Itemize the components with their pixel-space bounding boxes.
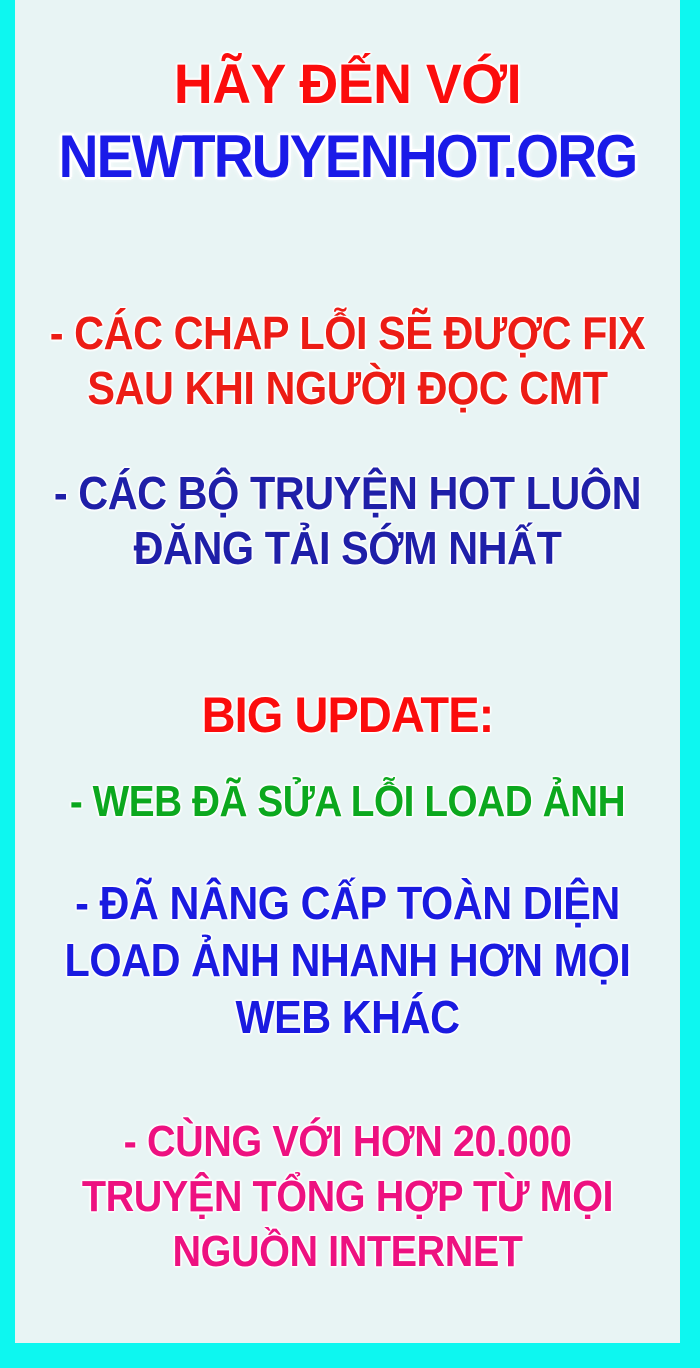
update-item-line: WEB KHÁC <box>48 994 647 1041</box>
notice-line: SAU KHI NGƯỜI ĐỌC CMT <box>48 365 647 412</box>
notice-fix-notice: - CÁC CHAP LỖI SẼ ĐƯỢC FIX SAU KHI NGƯỜI… <box>15 310 680 412</box>
banner-canvas: HÃY ĐẾN VỚI NEWTRUYENHOT.ORG - CÁC CHAP … <box>15 0 680 1343</box>
update-item-line: LOAD ẢNH NHANH HƠN MỌI <box>48 937 647 984</box>
update-item-full-upgrade: - ĐÃ NÂNG CẤP TOÀN DIỆN LOAD ẢNH NHANH H… <box>15 880 680 1041</box>
update-item-line: - CÙNG VỚI HƠN 20.000 <box>48 1120 647 1165</box>
promo-banner: HÃY ĐẾN VỚI NEWTRUYENHOT.ORG - CÁC CHAP … <box>0 0 700 1368</box>
update-item-library-count: - CÙNG VỚI HƠN 20.000 TRUYỆN TỔNG HỢP TỪ… <box>15 1120 680 1275</box>
big-update-heading: BIG UPDATE: <box>35 690 660 741</box>
notice-line: - CÁC BỘ TRUYỆN HOT LUÔN <box>48 470 647 517</box>
update-item-line: - ĐÃ NÂNG CẤP TOÀN DIỆN <box>48 880 647 927</box>
update-item-line: NGUỒN INTERNET <box>48 1230 647 1275</box>
big-update-heading-block: BIG UPDATE: <box>15 690 680 741</box>
notice-line: ĐĂNG TẢI SỚM NHẤT <box>48 525 647 572</box>
notice-line: - CÁC CHAP LỖI SẼ ĐƯỢC FIX <box>48 310 647 357</box>
update-item-line: TRUYỆN TỔNG HỢP TỪ MỌI <box>48 1175 647 1220</box>
hero-block: HÃY ĐẾN VỚI NEWTRUYENHOT.ORG <box>15 55 680 187</box>
hero-headline: HÃY ĐẾN VỚI <box>28 55 666 112</box>
notice-hot-series-notice: - CÁC BỘ TRUYỆN HOT LUÔN ĐĂNG TẢI SỚM NH… <box>15 470 680 572</box>
update-item-line: - WEB ĐÃ SỬA LỖI LOAD ẢNH <box>55 780 640 825</box>
update-item-image-load-fix: - WEB ĐÃ SỬA LỖI LOAD ẢNH <box>15 780 680 825</box>
site-url-text[interactable]: NEWTRUYENHOT.ORG <box>42 126 654 187</box>
